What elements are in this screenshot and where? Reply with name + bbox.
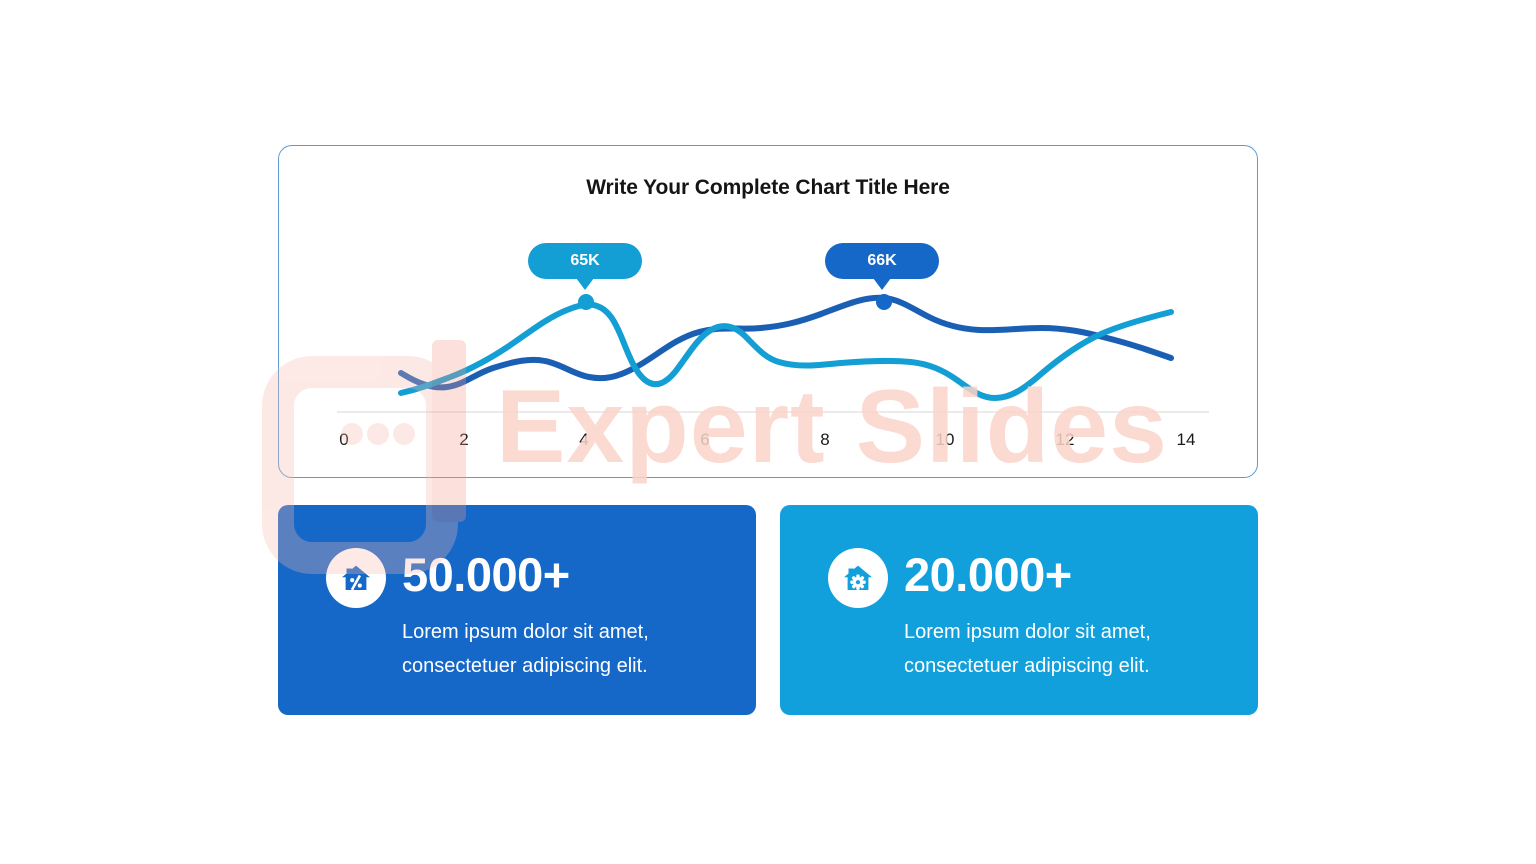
stat-value: 50.000+ [402,551,570,598]
data-point-marker-65k[interactable] [578,294,594,310]
x-tick-0: 0 [324,430,364,450]
stat-card-20000[interactable]: 20.000+ Lorem ipsum dolor sit amet, cons… [780,505,1258,715]
x-tick-12: 12 [1045,430,1085,450]
chart-card: Write Your Complete Chart Title Here [278,145,1258,478]
badge-tail [576,278,594,290]
x-tick-10: 10 [925,430,965,450]
line-chart-plot [279,146,1259,479]
stat-description: Lorem ipsum dolor sit amet, consectetuer… [402,615,722,684]
badge-tail [873,278,891,290]
x-tick-8: 8 [805,430,845,450]
value-badge-66k[interactable]: 66K [825,243,939,279]
data-point-marker-66k[interactable] [876,294,892,310]
house-gear-icon-circle [828,548,888,608]
house-percent-icon-circle [326,548,386,608]
value-badge-65k-label: 65K [570,252,599,270]
x-tick-14: 14 [1166,430,1206,450]
value-badge-66k-label: 66K [867,252,896,270]
x-tick-6: 6 [685,430,725,450]
house-gear-icon [841,561,875,595]
house-percent-icon [339,561,373,595]
stat-card-50000[interactable]: 50.000+ Lorem ipsum dolor sit amet, cons… [278,505,756,715]
x-tick-4: 4 [564,430,604,450]
x-tick-2: 2 [444,430,484,450]
stat-value: 20.000+ [904,551,1072,598]
series-line-a [401,305,1171,398]
stat-description: Lorem ipsum dolor sit amet, consectetuer… [904,615,1224,684]
value-badge-65k[interactable]: 65K [528,243,642,279]
